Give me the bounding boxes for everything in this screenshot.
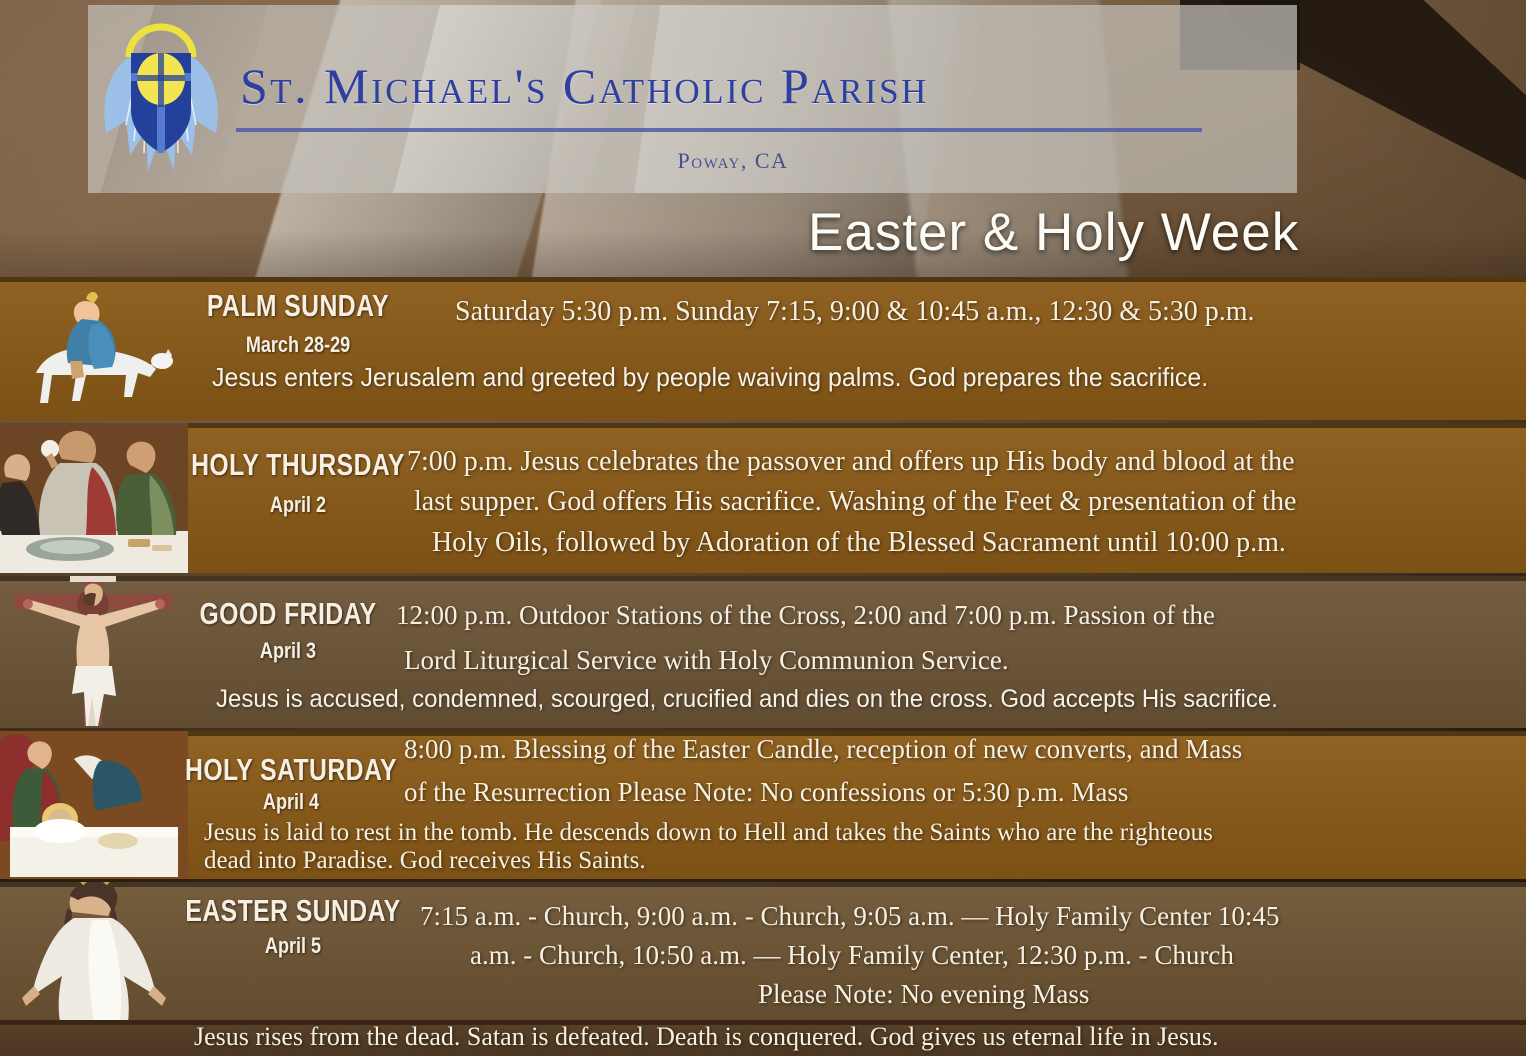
schedule-detail-line: 8:00 p.m. Blessing of the Easter Candle,… bbox=[404, 734, 1242, 765]
day-date: March 28-29 bbox=[54, 332, 543, 358]
schedule-detail-line: a.m. - Church, 10:50 a.m. — Holy Family … bbox=[470, 940, 1234, 971]
parish-name: St. Michael's Catholic Parish bbox=[240, 57, 929, 115]
schedule-detail-line: Please Note: No evening Mass bbox=[758, 979, 1089, 1010]
schedule-detail-line: last supper. God offers His sacrifice. W… bbox=[414, 486, 1296, 518]
schedule-detail-line: dead into Paradise. God receives His Sai… bbox=[204, 847, 646, 875]
day-date: April 5 bbox=[53, 933, 534, 959]
footer-text: Jesus rises from the dead. Satan is defe… bbox=[194, 1022, 1219, 1052]
band-separator bbox=[0, 882, 1526, 887]
schedule-band: HOLY THURSDAYApril 27:00 p.m. Jesus cele… bbox=[0, 423, 1526, 573]
schedule-detail-line: 7:00 p.m. Jesus celebrates the passover … bbox=[407, 446, 1295, 478]
day-summary-line: Jesus is accused, condemned, scourged, c… bbox=[216, 685, 1278, 714]
schedule-detail-line: Lord Liturgical Service with Holy Commun… bbox=[404, 645, 1009, 676]
band-separator bbox=[0, 277, 1526, 282]
schedule-band: HOLY SATURDAYApril 48:00 p.m. Blessing o… bbox=[0, 731, 1526, 879]
schedule-detail-line: Holy Oils, followed by Adoration of the … bbox=[432, 527, 1286, 559]
title-underline bbox=[236, 128, 1202, 132]
schedule-band: GOOD FRIDAYApril 312:00 p.m. Outdoor Sta… bbox=[0, 576, 1526, 728]
schedule-detail-line: Saturday 5:30 p.m. Sunday 7:15, 9:00 & 1… bbox=[455, 296, 1255, 328]
schedule-detail-line: of the Resurrection Please Note: No conf… bbox=[404, 777, 1128, 808]
easter-holy-week-flyer: St. Michael's Catholic Parish Poway, CA … bbox=[0, 0, 1526, 1056]
day-summary-line: Jesus enters Jerusalem and greeted by pe… bbox=[212, 362, 1208, 393]
schedule-band: EASTER SUNDAYApril 57:15 a.m. - Church, … bbox=[0, 882, 1526, 1020]
winged-shield-cross-logo bbox=[96, 13, 226, 185]
page-title: Easter & Holy Week bbox=[808, 202, 1299, 263]
band-separator bbox=[0, 423, 1526, 428]
parish-header-banner: St. Michael's Catholic Parish Poway, CA bbox=[88, 5, 1297, 193]
band-separator bbox=[0, 576, 1526, 581]
parish-location: Poway, CA bbox=[568, 148, 898, 174]
schedule-detail-line: 12:00 p.m. Outdoor Stations of the Cross… bbox=[396, 600, 1215, 631]
footer-band: Jesus rises from the dead. Satan is defe… bbox=[0, 1020, 1526, 1056]
schedule-detail-line: 7:15 a.m. - Church, 9:00 a.m. - Church, … bbox=[420, 901, 1279, 932]
schedule-band: PALM SUNDAYMarch 28-29Saturday 5:30 p.m.… bbox=[0, 277, 1526, 420]
schedule-detail-line: Jesus is laid to rest in the tomb. He de… bbox=[204, 819, 1213, 847]
